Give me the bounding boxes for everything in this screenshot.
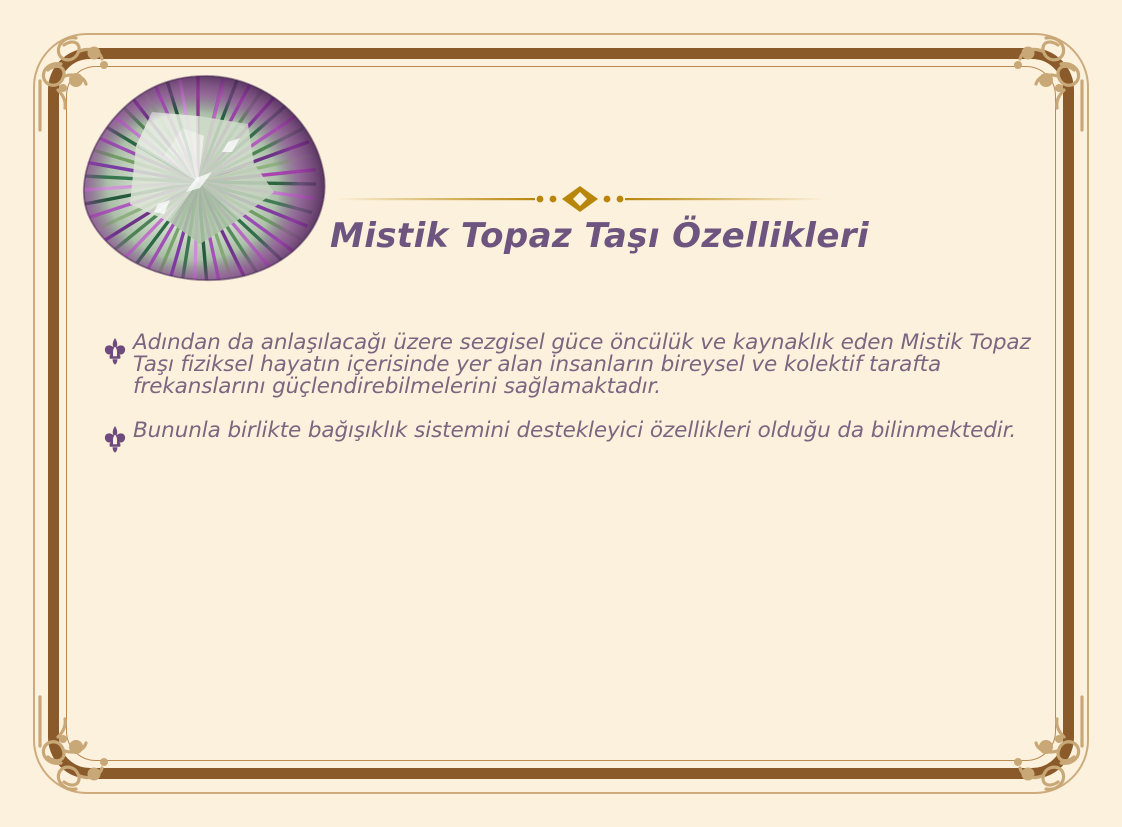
content-list: Adından da anlaşılacağı üzere sezgisel g… (100, 332, 1060, 476)
certificate-page: Mistik Topaz Taşı Özellikleri Adından da… (0, 0, 1122, 827)
diamond-divider-ornament (335, 186, 825, 212)
list-item: Adından da anlaşılacağı üzere sezgisel g… (100, 332, 1060, 398)
title-block: Mistik Topaz Taşı Özellikleri (330, 186, 830, 256)
fleur-de-lis-icon (100, 424, 130, 454)
list-item-text: Bununla birlikte bağışıklık sistemini de… (133, 420, 1060, 442)
list-item: Bununla birlikte bağışıklık sistemini de… (100, 420, 1060, 454)
scroll-flourish-ornament-top-right (984, 18, 1104, 138)
fleur-de-lis-icon (100, 336, 130, 366)
page-title: Mistik Topaz Taşı Özellikleri (330, 216, 830, 256)
list-item-text: Adından da anlaşılacağı üzere sezgisel g… (133, 332, 1060, 398)
scroll-flourish-ornament-bottom-left (18, 689, 138, 809)
scroll-flourish-ornament-bottom-right (984, 689, 1104, 809)
mystic-topaz-gemstone-image (78, 72, 328, 284)
